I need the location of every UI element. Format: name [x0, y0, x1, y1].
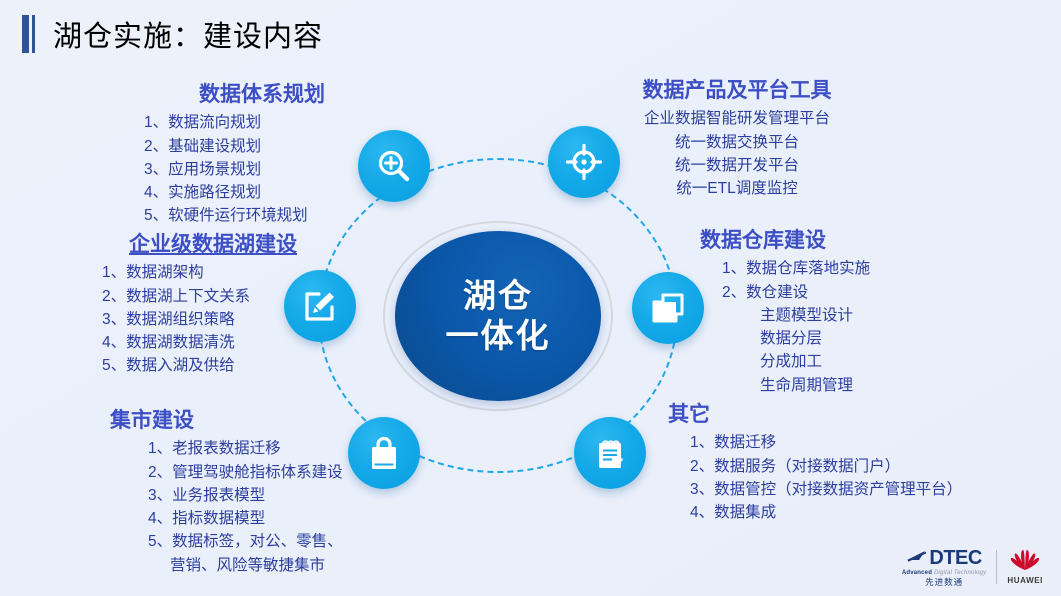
- slide-title-bar: 湖仓实施：建设内容: [22, 12, 323, 56]
- footer-logos: DTEC Advanced Digital Technology 先进数通: [902, 546, 1043, 588]
- list-item: 1、数据流向规划: [144, 111, 412, 134]
- list-item: 1、数据仓库落地实施: [722, 257, 980, 280]
- list-item: 统一ETL调度监控: [592, 177, 882, 200]
- list-item: 2、数仓建设: [722, 281, 980, 304]
- list-item: 3、业务报表模型: [148, 484, 400, 507]
- sub-list-item: 分成加工: [760, 350, 980, 373]
- copy-layers-icon: [648, 288, 688, 328]
- block-item-list: 1、数据迁移 2、数据服务（对接数据门户） 3、数据管控（对接数据资产管理平台）…: [690, 431, 998, 524]
- list-item: 3、数据管控（对接数据资产管理平台）: [690, 478, 998, 501]
- dtec-wordmark: DTEC: [929, 548, 981, 568]
- icon-bubble-other[interactable]: [574, 417, 646, 489]
- block-item-list: 1、数据仓库落地实施 2、数仓建设 主题模型设计 数据分层 分成加工 生命周期管…: [722, 257, 980, 397]
- block-item-list: 1、数据流向规划 2、基础建设规划 3、应用场景规划 4、实施路径规划 5、软硬…: [144, 111, 412, 227]
- block-data-mart: 集市建设 1、老报表数据迁移 2、管理驾驶舱指标体系建设 3、业务报表模型 4、…: [110, 408, 400, 577]
- block-data-system-planning: 数据体系规划 1、数据流向规划 2、基础建设规划 3、应用场景规划 4、实施路径…: [112, 82, 412, 228]
- dtec-arrow-icon: [906, 548, 928, 568]
- list-item: 5、数据标签，对公、零售、: [148, 530, 400, 553]
- list-item: 4、实施路径规划: [144, 181, 412, 204]
- block-enterprise-data-lake: 企业级数据湖建设 1、数据湖架构 2、数据湖上下文关系 3、数据湖组织策略 4、…: [78, 232, 348, 378]
- list-item: 1、数据迁移: [690, 431, 998, 454]
- huawei-logo: HUAWEI: [1007, 549, 1043, 585]
- list-item: 2、基础建设规划: [144, 135, 412, 158]
- list-item: 2、数据服务（对接数据门户）: [690, 455, 998, 478]
- block-title: 数据产品及平台工具: [592, 78, 882, 104]
- sub-list-item: 数据分层: [760, 327, 980, 350]
- list-item: 4、数据集成: [690, 501, 998, 524]
- center-hub-line-1: 湖仓: [463, 276, 533, 316]
- list-item: 5、数据入湖及供给: [102, 354, 348, 377]
- slide-canvas: 湖仓实施：建设内容 湖仓 一体化: [0, 0, 1061, 596]
- block-item-list: 1、老报表数据迁移 2、管理驾驶舱指标体系建设 3、业务报表模型 4、指标数据模…: [148, 437, 400, 577]
- sub-list-item: 主题模型设计: [760, 304, 980, 327]
- title-accent-bars: [22, 15, 35, 53]
- huawei-flower-icon: [1009, 549, 1041, 575]
- accent-bar-thick: [22, 15, 29, 53]
- block-item-list: 1、数据湖架构 2、数据湖上下文关系 3、数据湖组织策略 4、数据湖数据清洗 5…: [102, 261, 348, 377]
- dtec-logo: DTEC Advanced Digital Technology 先进数通: [902, 548, 987, 587]
- page-title: 湖仓实施：建设内容: [53, 13, 323, 55]
- list-item: 1、老报表数据迁移: [148, 437, 400, 460]
- huawei-wordmark: HUAWEI: [1007, 577, 1043, 585]
- list-item: 2、数据湖上下文关系: [102, 285, 348, 308]
- accent-bar-thin: [32, 15, 35, 53]
- list-item: 2、管理驾驶舱指标体系建设: [148, 461, 400, 484]
- block-title: 集市建设: [110, 408, 400, 434]
- logo-divider: [996, 550, 997, 584]
- checklist-note-icon: [590, 433, 630, 473]
- list-item: 企业数据智能研发管理平台: [592, 107, 882, 130]
- block-data-warehouse: 数据仓库建设 1、数据仓库落地实施 2、数仓建设 主题模型设计 数据分层 分成加…: [700, 228, 980, 397]
- block-title: 数据体系规划: [112, 82, 412, 108]
- dtec-tagline: Advanced Digital Technology: [902, 570, 987, 576]
- dtec-logo-mark-and-word: DTEC: [906, 548, 981, 568]
- icon-bubble-data-warehouse[interactable]: [632, 272, 704, 344]
- list-item: 1、数据湖架构: [102, 261, 348, 284]
- list-item: 统一数据交换平台: [592, 131, 882, 154]
- list-item: 3、数据湖组织策略: [102, 308, 348, 331]
- block-title: 其它: [668, 402, 998, 428]
- block-title: 企业级数据湖建设: [78, 232, 348, 258]
- list-item: 3、应用场景规划: [144, 158, 412, 181]
- sub-list-item: 生命周期管理: [760, 374, 980, 397]
- block-other: 其它 1、数据迁移 2、数据服务（对接数据门户） 3、数据管控（对接数据资产管理…: [668, 402, 998, 524]
- block-item-list: 企业数据智能研发管理平台 统一数据交换平台 统一数据开发平台 统一ETL调度监控: [592, 107, 882, 200]
- dtec-tagline-rest: Digital Technology: [934, 570, 986, 576]
- list-item: 统一数据开发平台: [592, 154, 882, 177]
- dtec-tagline-bold: Advanced: [902, 570, 932, 576]
- center-hub-line-2: 一体化: [446, 316, 551, 356]
- list-item: 4、数据湖数据清洗: [102, 331, 348, 354]
- center-hub-circle: 湖仓 一体化: [395, 231, 601, 401]
- list-item: 4、指标数据模型: [148, 507, 400, 530]
- list-item-continuation: 营销、风险等敏捷集市: [170, 554, 400, 577]
- block-title: 数据仓库建设: [700, 228, 980, 254]
- list-item: 5、软硬件运行环境规划: [144, 204, 412, 227]
- dtec-chinese-name: 先进数通: [925, 578, 963, 587]
- block-data-products-platform: 数据产品及平台工具 企业数据智能研发管理平台 统一数据交换平台 统一数据开发平台…: [592, 78, 882, 200]
